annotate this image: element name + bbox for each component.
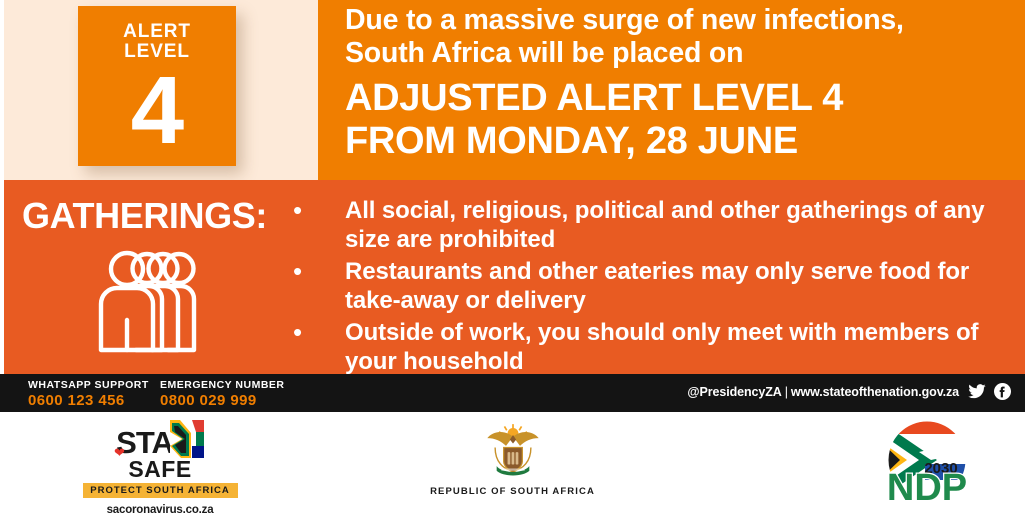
- twitter-icon[interactable]: [968, 384, 986, 405]
- group-of-people-icon: [95, 248, 217, 356]
- stay-safe-tagline: PROTECT SOUTH AFRICA: [83, 483, 238, 498]
- gatherings-heading: GATHERINGS:: [22, 196, 290, 236]
- stay-safe-top-row: STA ❤: [70, 420, 250, 458]
- list-item: • Outside of work, you should only meet …: [288, 318, 1008, 376]
- heart-icon: ❤: [114, 446, 125, 459]
- handle-separator: |: [782, 385, 791, 399]
- whatsapp-support-label: WHATSAPP SUPPORT: [28, 379, 149, 391]
- presidency-handle-block: @PresidencyZA|www.stateofthenation.gov.z…: [687, 385, 959, 399]
- bullet-marker-icon: •: [288, 196, 345, 225]
- headline-main-line-1: ADJUSTED ALERT LEVEL 4: [345, 77, 843, 119]
- headline-intro-line-2: South Africa will be placed on: [345, 37, 743, 69]
- alert-level-badge: ALERT LEVEL 4: [78, 6, 236, 166]
- alert-kicker-line-1: ALERT: [123, 21, 191, 42]
- ndp-logo: 2030 NDP 2030 NDP: [867, 418, 987, 506]
- list-item-text: All social, religious, political and oth…: [345, 196, 1008, 254]
- alert-level-number: 4: [131, 68, 183, 154]
- social-icons-group: [968, 383, 1011, 405]
- facebook-icon[interactable]: [994, 383, 1011, 405]
- left-white-edge-mid: [0, 180, 4, 374]
- list-item: • All social, religious, political and o…: [288, 196, 1008, 254]
- coat-of-arms-caption: REPUBLIC OF SOUTH AFRICA: [413, 486, 613, 497]
- emergency-number-label: EMERGENCY NUMBER: [160, 379, 284, 391]
- stay-safe-word-safe: SAFE: [70, 457, 250, 481]
- alert-level-kicker: ALERT LEVEL: [123, 22, 191, 62]
- coat-of-arms-logo: REPUBLIC OF SOUTH AFRICA: [413, 420, 613, 497]
- headline-main-line-2: FROM MONDAY, 28 JUNE: [345, 120, 798, 162]
- coat-of-arms-icon: [478, 465, 548, 482]
- emergency-number-value[interactable]: 0800 029 999: [160, 392, 284, 409]
- headline-intro: Due to a massive surge of new infections…: [345, 4, 1017, 70]
- left-white-edge-top: [0, 0, 4, 180]
- bullet-marker-icon: •: [288, 257, 345, 286]
- bullet-marker-icon: •: [288, 318, 345, 347]
- presidency-website[interactable]: www.stateofthenation.gov.za: [791, 385, 959, 399]
- list-item: • Restaurants and other eateries may onl…: [288, 257, 1008, 315]
- stay-safe-logo: STA ❤ SAFE PROTECT SOUTH AFRICA sacorona…: [70, 420, 250, 516]
- sacoronavirus-url[interactable]: sacoronavirus.co.za: [70, 504, 250, 516]
- headline-block: Due to a massive surge of new infections…: [345, 4, 1017, 163]
- presidency-handle[interactable]: @PresidencyZA: [687, 385, 781, 399]
- headline-main: ADJUSTED ALERT LEVEL 4 FROM MONDAY, 28 J…: [345, 77, 1017, 163]
- south-africa-flag-y-icon: [170, 420, 204, 458]
- emergency-number-block: EMERGENCY NUMBER 0800 029 999: [160, 379, 284, 409]
- gatherings-rules-list: • All social, religious, political and o…: [288, 196, 1008, 379]
- whatsapp-support-block: WHATSAPP SUPPORT 0600 123 456: [28, 379, 149, 409]
- alert-level-poster: ALERT LEVEL 4 Due to a massive surge of …: [0, 0, 1025, 512]
- headline-intro-line-1: Due to a massive surge of new infections…: [345, 4, 904, 36]
- list-item-text: Outside of work, you should only meet wi…: [345, 318, 1008, 376]
- whatsapp-support-number[interactable]: 0600 123 456: [28, 392, 149, 409]
- ndp-acronym-text: NDP: [887, 467, 967, 506]
- list-item-text: Restaurants and other eateries may only …: [345, 257, 1008, 315]
